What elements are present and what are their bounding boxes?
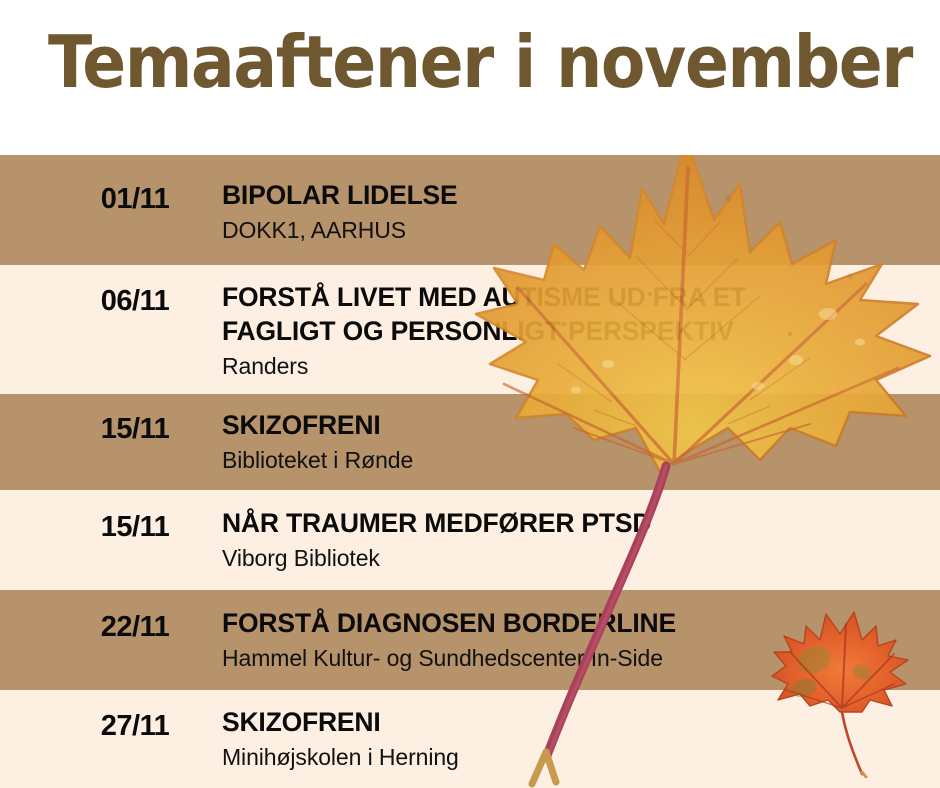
event-venue: Hammel Kultur- og Sundhedscenter In-Side <box>222 644 930 673</box>
event-body: SKIZOFRENI Minihøjskolen i Herning <box>222 706 930 772</box>
event-row: 15/11 NÅR TRAUMER MEDFØRER PTSD Viborg B… <box>0 490 940 590</box>
event-venue: Biblioteket i Rønde <box>222 446 930 475</box>
event-title: FORSTÅ DIAGNOSEN BORDERLINE <box>222 607 930 641</box>
event-venue: DOKK1, AARHUS <box>222 216 930 245</box>
event-venue: Randers <box>222 352 930 381</box>
event-body: SKIZOFRENI Biblioteket i Rønde <box>222 409 930 475</box>
event-title: SKIZOFRENI <box>222 409 930 443</box>
event-body: FORSTÅ LIVET MED AUTISME UD FRA ET FAGLI… <box>222 281 930 381</box>
event-date: 22/11 <box>60 611 210 644</box>
poster-canvas: 01/11 BIPOLAR LIDELSE DOKK1, AARHUS 06/1… <box>0 0 940 788</box>
event-title: NÅR TRAUMER MEDFØRER PTSD <box>222 507 930 541</box>
event-date: 15/11 <box>60 511 210 544</box>
event-date: 01/11 <box>60 183 210 216</box>
event-body: FORSTÅ DIAGNOSEN BORDERLINE Hammel Kultu… <box>222 607 930 673</box>
event-venue: Viborg Bibliotek <box>222 544 930 573</box>
event-date: 27/11 <box>60 710 210 743</box>
event-row: 15/11 SKIZOFRENI Biblioteket i Rønde <box>0 394 940 490</box>
event-body: BIPOLAR LIDELSE DOKK1, AARHUS <box>222 179 930 245</box>
event-date: 15/11 <box>60 413 210 446</box>
event-row: 27/11 SKIZOFRENI Minihøjskolen i Herning <box>0 690 940 788</box>
event-title: SKIZOFRENI <box>222 706 930 740</box>
event-date: 06/11 <box>60 285 210 318</box>
title-bar: Temaaftener i november <box>0 0 940 155</box>
event-body: NÅR TRAUMER MEDFØRER PTSD Viborg Bibliot… <box>222 507 930 573</box>
event-row: 06/11 FORSTÅ LIVET MED AUTISME UD FRA ET… <box>0 265 940 394</box>
event-row: 22/11 FORSTÅ DIAGNOSEN BORDERLINE Hammel… <box>0 590 940 690</box>
event-title: FORSTÅ LIVET MED AUTISME UD FRA ET FAGLI… <box>222 281 930 349</box>
event-row: 01/11 BIPOLAR LIDELSE DOKK1, AARHUS <box>0 155 940 265</box>
page-title: Temaaftener i november <box>48 26 912 98</box>
event-title: BIPOLAR LIDELSE <box>222 179 930 213</box>
event-venue: Minihøjskolen i Herning <box>222 743 930 772</box>
